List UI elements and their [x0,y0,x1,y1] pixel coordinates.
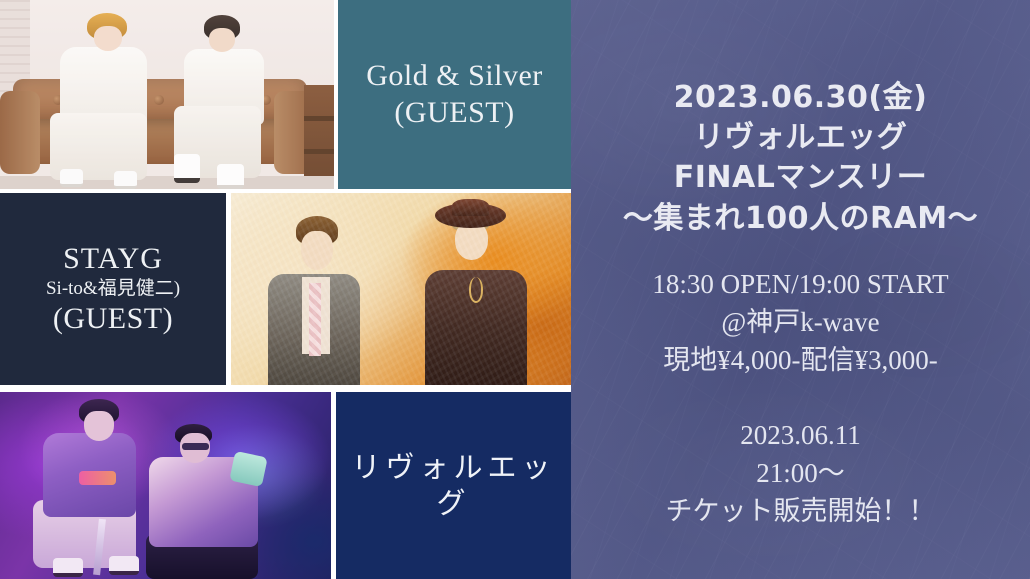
photo-collage: Gold & Silver (GUEST) STAYG Si-to&福見健二) … [0,0,571,579]
photo-haze-overlay [0,0,334,189]
event-times: 18:30 OPEN/19:00 START [652,265,948,303]
gold-silver-role: (GUEST) [394,95,514,132]
neon-person-b-sunglasses [182,443,208,450]
event-details: 18:30 OPEN/19:00 START @神戸k-wave 現地¥4,00… [652,265,948,380]
photo-neon-duo [0,392,331,579]
ticket-sale-time: 21:00〜 [666,454,936,492]
ticket-sale-info: 2023.06.11 21:00〜 チケット販売開始！！ [666,416,936,531]
stayg-panel: STAYG Si-to&福見健二) (GUEST) [0,193,226,385]
ticket-sale-label: チケット販売開始！！ [666,492,936,530]
event-flyer: Gold & Silver (GUEST) STAYG Si-to&福見健二) … [0,0,1030,579]
event-info-panel: 2023.06.30(金) リヴォルエッグ FINALマンスリー 〜集まれ100… [571,0,1030,579]
photo-warm-duo [231,193,571,385]
photo-duo-sofa [0,0,334,189]
event-title: FINALマンスリー [623,158,978,198]
revol-egg-panel: リヴォルエッグ [336,392,571,579]
neon-person-a-graphic [79,471,115,486]
stayg-name: STAYG [63,241,163,278]
neon-person-a-shoe-right [109,556,139,575]
event-venue: @神戸k-wave [652,303,948,341]
event-subtitle: 〜集まれ100人のRAM〜 [623,199,978,239]
revol-egg-name: リヴォルエッグ [336,450,571,521]
event-artist: リヴォルエッグ [623,118,978,158]
photo-texture-overlay [231,193,571,385]
stayg-role: (GUEST) [53,301,173,338]
event-date: 2023.06.30(金) [623,78,978,118]
neon-person-a-face [84,411,114,441]
stayg-members: Si-to&福見健二) [46,277,180,300]
ticket-sale-date: 2023.06.11 [666,416,936,454]
neon-person-b-collar [229,451,268,487]
gold-silver-name: Gold & Silver [366,58,543,95]
gold-silver-panel: Gold & Silver (GUEST) [338,0,571,189]
event-headline: 2023.06.30(金) リヴォルエッグ FINALマンスリー 〜集まれ100… [623,78,978,239]
neon-person-a-shoe-left [53,558,83,577]
event-prices: 現地¥4,000-配信¥3,000- [652,341,948,379]
